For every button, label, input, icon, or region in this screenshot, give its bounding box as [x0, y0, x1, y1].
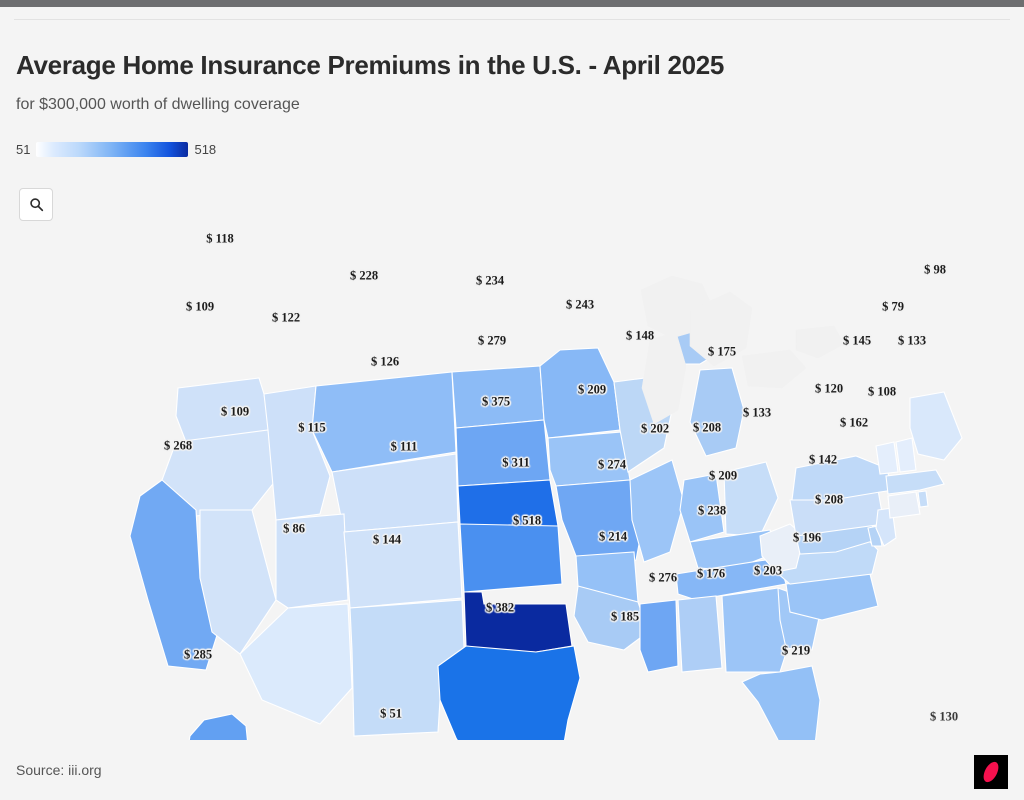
- legend-min-label: 51: [16, 143, 30, 156]
- state-me[interactable]: [910, 392, 962, 460]
- state-ia[interactable]: [548, 432, 630, 486]
- home-insurance-premium-map-page: Average Home Insurance Premiums in the U…: [0, 0, 1024, 800]
- top-chrome-bar: [0, 0, 1024, 7]
- state-in[interactable]: [680, 474, 724, 542]
- state-sd[interactable]: [456, 420, 550, 486]
- brand-logo: [974, 755, 1008, 789]
- state-vt[interactable]: [876, 442, 898, 474]
- state-mn[interactable]: [540, 348, 620, 438]
- color-legend: 51 518: [16, 140, 216, 158]
- state-ok[interactable]: [464, 592, 572, 652]
- state-oh[interactable]: [724, 462, 778, 536]
- choropleth-map[interactable]: $ 118$ 228$ 234$ 243$ 98$ 109$ 122$ 148$…: [0, 180, 1024, 740]
- state-mi_lp[interactable]: [690, 368, 744, 456]
- state-nh[interactable]: [896, 438, 916, 472]
- state-ak[interactable]: [136, 714, 300, 740]
- state-fl[interactable]: [742, 666, 820, 740]
- great-lakes-layer: [641, 276, 844, 424]
- logo-leaf-icon: [981, 759, 1002, 784]
- state-ms[interactable]: [640, 600, 678, 672]
- state-ri[interactable]: [918, 491, 928, 507]
- search-icon: [29, 197, 44, 212]
- state-al[interactable]: [678, 596, 722, 672]
- state-ct[interactable]: [888, 492, 920, 518]
- page-subtitle: for $300,000 worth of dwelling coverage: [16, 96, 300, 114]
- state-co[interactable]: [344, 522, 462, 608]
- legend-max-label: 518: [194, 143, 216, 156]
- legend-gradient-bar: [36, 142, 188, 157]
- us-map-svg[interactable]: [0, 180, 1024, 740]
- state-tx[interactable]: [438, 646, 580, 740]
- state-ut[interactable]: [276, 514, 348, 608]
- page-title: Average Home Insurance Premiums in the U…: [16, 50, 724, 81]
- state-nd[interactable]: [452, 366, 544, 428]
- map-search-button[interactable]: [19, 188, 53, 221]
- source-caption: Source: iii.org: [16, 762, 102, 778]
- state-ma[interactable]: [886, 470, 944, 494]
- header-divider: [14, 19, 1010, 20]
- state-ks[interactable]: [460, 524, 562, 592]
